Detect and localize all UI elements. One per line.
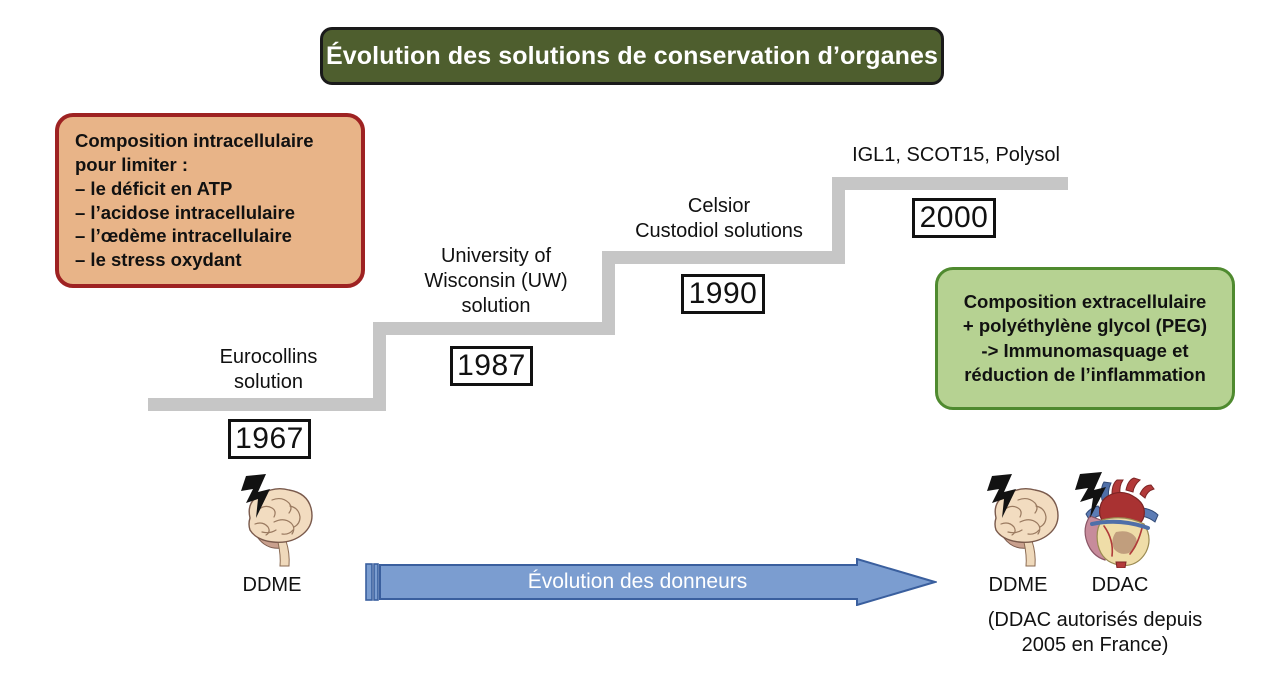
step-label-eurocollins: Eurocollins solution [196,345,341,395]
step-label-uw: University of Wisconsin (UW) solution [412,244,580,319]
staircase-tread-1990 [602,251,845,264]
donor-evolution-arrow: Évolution des donneurs [365,558,937,606]
step-label-celsior: Celsior Custodiol solutions [614,194,824,244]
year-box-1990: 1990 [681,274,765,314]
page-title-text: Évolution des solutions de conservation … [326,42,938,71]
brain-lightning-icon [968,472,1068,568]
staircase-tread-2000 [832,177,1068,190]
organ-caption-left-ddme: DDME [222,573,322,598]
year-box-1967: 1967 [228,419,311,459]
step-label-igl1: IGL1, SCOT15, Polysol [846,143,1066,168]
brain-lightning-icon [222,472,322,568]
organ-caption-right-ddac: DDAC [1068,573,1172,598]
year-box-2000: 2000 [912,198,996,238]
callout-intracellular-composition: Composition intracellulaire pour limiter… [55,113,365,288]
staircase-tread-1987 [373,322,615,335]
ddac-authorization-note: (DDAC autorisés depuis 2005 en France) [950,608,1240,658]
infographic-canvas: Évolution des solutions de conservation … [0,0,1280,688]
page-title: Évolution des solutions de conservation … [320,27,944,85]
organ-caption-right-ddme: DDME [968,573,1068,598]
callout-extracellular-composition: Composition extracellulaire + polyéthylè… [935,267,1235,410]
staircase-tread-1967 [148,398,386,411]
heart-lightning-icon [1068,472,1172,568]
year-box-1987: 1987 [450,346,533,386]
